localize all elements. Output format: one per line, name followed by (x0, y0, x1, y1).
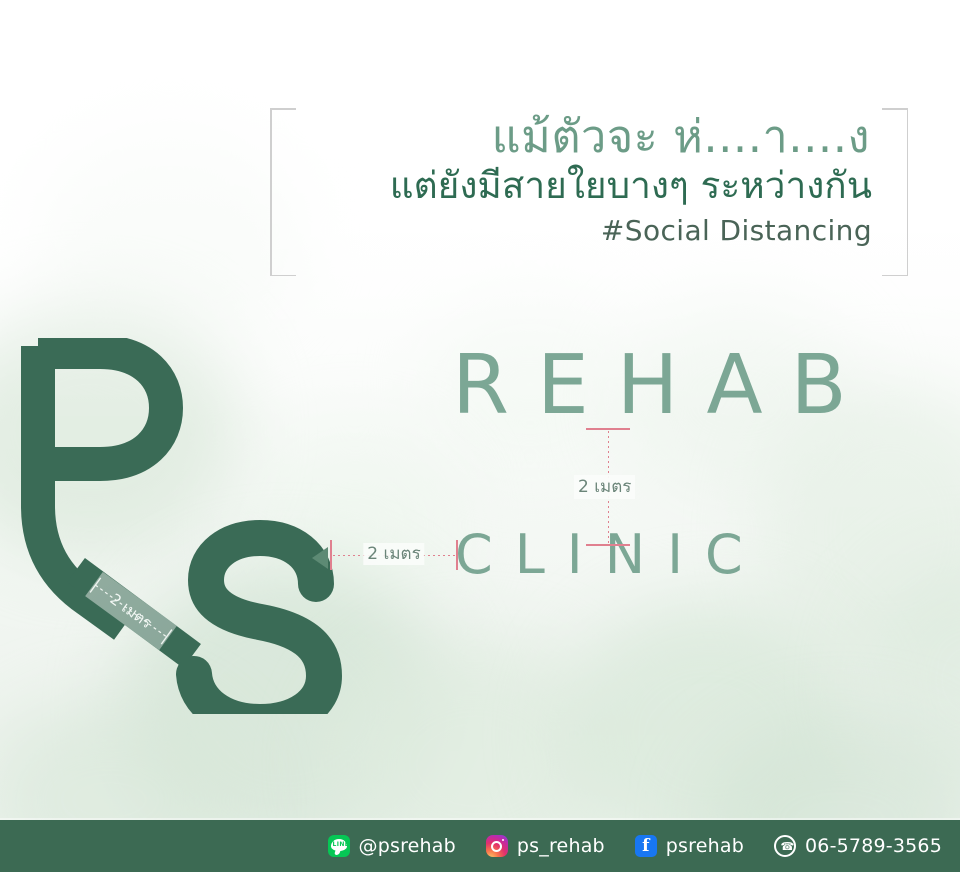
phone-icon: ☎ (774, 835, 796, 857)
footer-instagram-handle: ps_rehab (517, 835, 605, 857)
dimension-horizontal-label: 2 เมตร (363, 543, 424, 565)
footer-item-line[interactable]: LINE @psrehab (328, 835, 456, 857)
headline-line-1: แม้ตัวจะ ห่....า....ง (270, 108, 884, 166)
headline-block: แม้ตัวจะ ห่....า....ง แต่ยังมีสายใยบางๆ … (270, 108, 908, 276)
logo-s (194, 538, 324, 714)
dimension-vertical: 2 เมตร (586, 428, 634, 546)
line-icon: LINE (328, 835, 350, 857)
footer-phone-number: 06-5789-3565 (805, 835, 942, 857)
headline-line-2: แต่ยังมีสายใยบางๆ ระหว่างกัน (270, 162, 884, 210)
footer-item-facebook[interactable]: f psrehab (635, 835, 744, 857)
dimension-horizontal: 2 เมตร (330, 540, 458, 574)
wordmark-rehab: REHAB (452, 345, 875, 427)
poster-canvas: แม้ตัวจะ ห่....า....ง แต่ยังมีสายใยบางๆ … (0, 0, 960, 872)
footer-facebook-handle: psrehab (666, 835, 744, 857)
footer-line-handle: @psrehab (359, 835, 456, 857)
dimension-arrow-icon (312, 547, 328, 569)
footer-item-phone[interactable]: ☎ 06-5789-3565 (774, 835, 942, 857)
ps-logo-mark: 2 เมตร (16, 338, 356, 714)
dimension-cap (586, 428, 630, 430)
facebook-icon: f (635, 835, 657, 857)
headline-hashtag: #Social Distancing (270, 212, 884, 250)
dimension-cap (330, 540, 332, 570)
dimension-cap (586, 544, 630, 546)
dimension-cap (456, 540, 458, 570)
footer-item-instagram[interactable]: ps_rehab (486, 835, 605, 857)
instagram-icon (486, 835, 508, 857)
dimension-vertical-label: 2 เมตร (574, 475, 635, 499)
headline-lines: แม้ตัวจะ ห่....า....ง แต่ยังมีสายใยบางๆ … (270, 108, 908, 250)
footer-contact-bar: LINE @psrehab ps_rehab f psrehab ☎ 06-57… (0, 820, 960, 872)
